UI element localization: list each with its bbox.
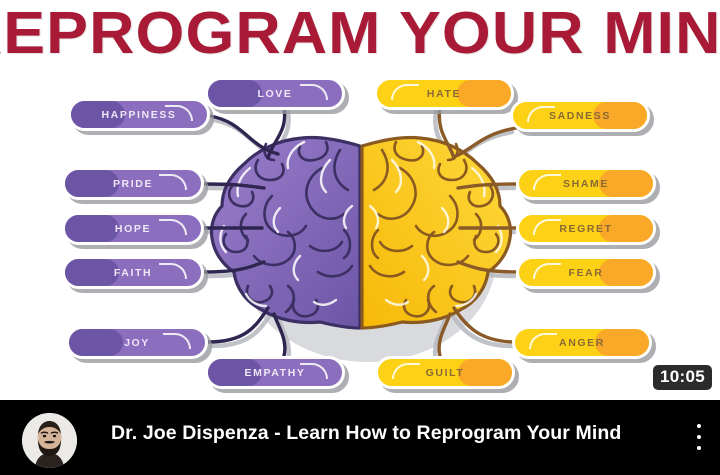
emotion-pill-happiness: HAPPINESS <box>68 98 210 131</box>
emotion-label: LOVE <box>258 88 293 100</box>
emotion-label: SADNESS <box>549 110 611 122</box>
emotion-pill-joy: JOY <box>66 326 208 359</box>
video-duration-badge: 10:05 <box>653 365 712 390</box>
channel-avatar[interactable] <box>22 413 77 468</box>
pill-cap <box>65 170 119 197</box>
kebab-dot-1 <box>697 424 701 428</box>
pill-gloss <box>533 174 561 190</box>
emotion-label: HATE <box>427 88 461 100</box>
pill-gloss <box>300 84 328 100</box>
emotion-pill-anger: ANGER <box>512 326 652 359</box>
video-title[interactable]: Dr. Joe Dispenza - Learn How to Reprogra… <box>111 420 671 446</box>
emotion-pill-love: LOVE <box>205 77 345 110</box>
kebab-dot-3 <box>697 446 701 450</box>
emotion-pill-sadness: SADNESS <box>510 99 650 132</box>
kebab-dot-2 <box>697 435 701 439</box>
emotion-pill-shame: SHAME <box>516 167 656 200</box>
emotion-pill-fear: FEAR <box>516 256 656 289</box>
emotion-label: FEAR <box>569 267 604 279</box>
emotion-pill-hate: HATE <box>374 77 514 110</box>
pill-cap <box>458 359 512 386</box>
emotion-pill-pride: PRIDE <box>62 167 204 200</box>
emotion-pill-faith: FAITH <box>62 256 204 289</box>
thumbnail-headline: REPROGRAM YOUR MIND <box>0 2 720 63</box>
pill-gloss <box>533 263 561 279</box>
pill-cap <box>65 215 119 242</box>
pill-cap <box>65 259 119 286</box>
left-hemisphere <box>211 137 360 328</box>
emotion-pill-regret: REGRET <box>516 212 656 245</box>
emotion-label: FAITH <box>114 267 152 279</box>
pill-cap <box>69 329 123 356</box>
video-thumbnail[interactable]: REPROGRAM YOUR MIND HAPPINESS LOVE PRIDE… <box>0 0 720 400</box>
pill-gloss <box>392 363 420 379</box>
emotion-label: SHAME <box>563 178 609 190</box>
pill-gloss <box>391 84 419 100</box>
emotion-label: HOPE <box>115 223 151 235</box>
pill-cap <box>599 259 653 286</box>
emotion-label: HAPPINESS <box>101 109 176 121</box>
pill-gloss <box>159 263 187 279</box>
pill-gloss <box>533 219 561 235</box>
emotion-pill-empathy: EMPATHY <box>205 356 345 389</box>
emotion-label: GUILT <box>426 367 465 379</box>
emotion-pill-guilt: GUILT <box>375 356 515 389</box>
kebab-menu-icon[interactable] <box>688 424 710 450</box>
emotion-label: JOY <box>124 337 150 349</box>
emotion-label: PRIDE <box>113 178 153 190</box>
pill-cap <box>208 80 262 107</box>
pill-gloss <box>163 333 191 349</box>
emotion-pill-hope: HOPE <box>62 212 204 245</box>
video-player-screen: REPROGRAM YOUR MIND HAPPINESS LOVE PRIDE… <box>0 0 720 475</box>
emotion-label: EMPATHY <box>245 367 306 379</box>
emotion-label: REGRET <box>559 223 612 235</box>
pill-gloss <box>159 174 187 190</box>
right-hemisphere <box>362 137 511 328</box>
pill-cap <box>457 80 511 107</box>
pill-gloss <box>529 333 557 349</box>
emotion-label: ANGER <box>559 337 605 349</box>
pill-gloss <box>159 219 187 235</box>
